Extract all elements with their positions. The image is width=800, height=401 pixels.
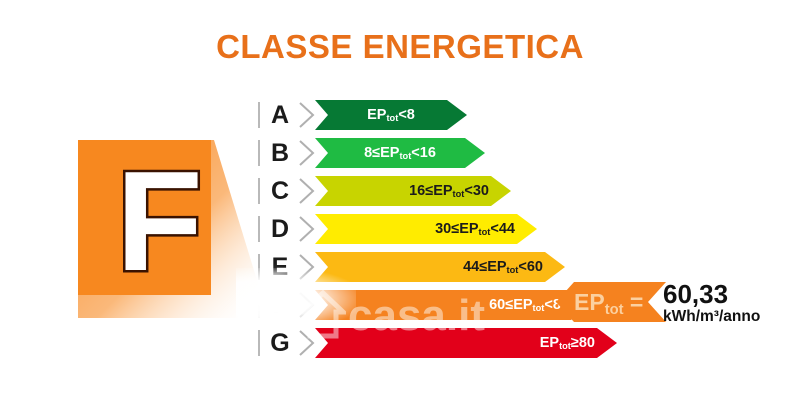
- class-letter-glyph: F: [116, 154, 203, 289]
- row-tick: [258, 292, 260, 318]
- row-tick: [258, 216, 260, 242]
- class-bar-f: 60≤EPtot<80: [315, 290, 591, 320]
- row-tick: [258, 254, 260, 280]
- class-bar-d: 30≤EPtot<44: [315, 214, 537, 244]
- class-letter-e: E: [267, 252, 293, 282]
- class-letter-g: G: [267, 328, 293, 358]
- result-label-sub: tot: [605, 302, 624, 318]
- result-label: EPtot =: [574, 282, 643, 322]
- row-tick: [258, 178, 260, 204]
- energy-class-certificate: CLASSE ENERGETICA F AEPtot<8B8≤EPtot<16C…: [0, 0, 800, 401]
- class-letter-d: D: [267, 214, 293, 244]
- row-tick: [258, 102, 260, 128]
- row-tick: [258, 140, 260, 166]
- result-label-suffix: =: [623, 289, 643, 315]
- class-letter-c: C: [267, 176, 293, 206]
- class-row-g: GEPtot≥80: [258, 328, 588, 358]
- class-letter-f: F: [267, 290, 293, 320]
- class-range-label-a: EPtot<8: [315, 100, 467, 130]
- result-unit: kWh/m³/anno: [663, 309, 760, 325]
- class-range-label-e: 44≤EPtot<60: [463, 252, 543, 282]
- class-letter-b: B: [267, 138, 293, 168]
- class-range-label-g: EPtot≥80: [540, 328, 595, 358]
- class-badge-letter: F: [110, 154, 220, 289]
- class-row-e: E44≤EPtot<60: [258, 252, 588, 282]
- class-row-c: C16≤EPtot<30: [258, 176, 588, 206]
- class-range-label-d: 30≤EPtot<44: [435, 214, 515, 244]
- class-bar-a: EPtot<8: [315, 100, 467, 130]
- class-row-f: F60≤EPtot<80: [258, 290, 588, 320]
- class-bar-b: 8≤EPtot<16: [315, 138, 485, 168]
- class-range-label-b: 8≤EPtot<16: [315, 138, 485, 168]
- class-row-b: B8≤EPtot<16: [258, 138, 588, 168]
- result-value: 60,33: [663, 281, 728, 307]
- current-class-badge: F: [78, 140, 283, 320]
- class-range-label-c: 16≤EPtot<30: [409, 176, 489, 206]
- class-letter-a: A: [267, 100, 293, 130]
- class-bar-e: 44≤EPtot<60: [315, 252, 565, 282]
- class-row-d: D30≤EPtot<44: [258, 214, 588, 244]
- class-bar-c: 16≤EPtot<30: [315, 176, 511, 206]
- energy-scale: AEPtot<8B8≤EPtot<16C16≤EPtot<30D30≤EPtot…: [258, 100, 588, 362]
- class-row-a: AEPtot<8: [258, 100, 588, 130]
- page-title: CLASSE ENERGETICA: [0, 28, 800, 66]
- row-tick: [258, 330, 260, 356]
- class-bar-g: EPtot≥80: [315, 328, 617, 358]
- result-label-prefix: EP: [574, 289, 605, 315]
